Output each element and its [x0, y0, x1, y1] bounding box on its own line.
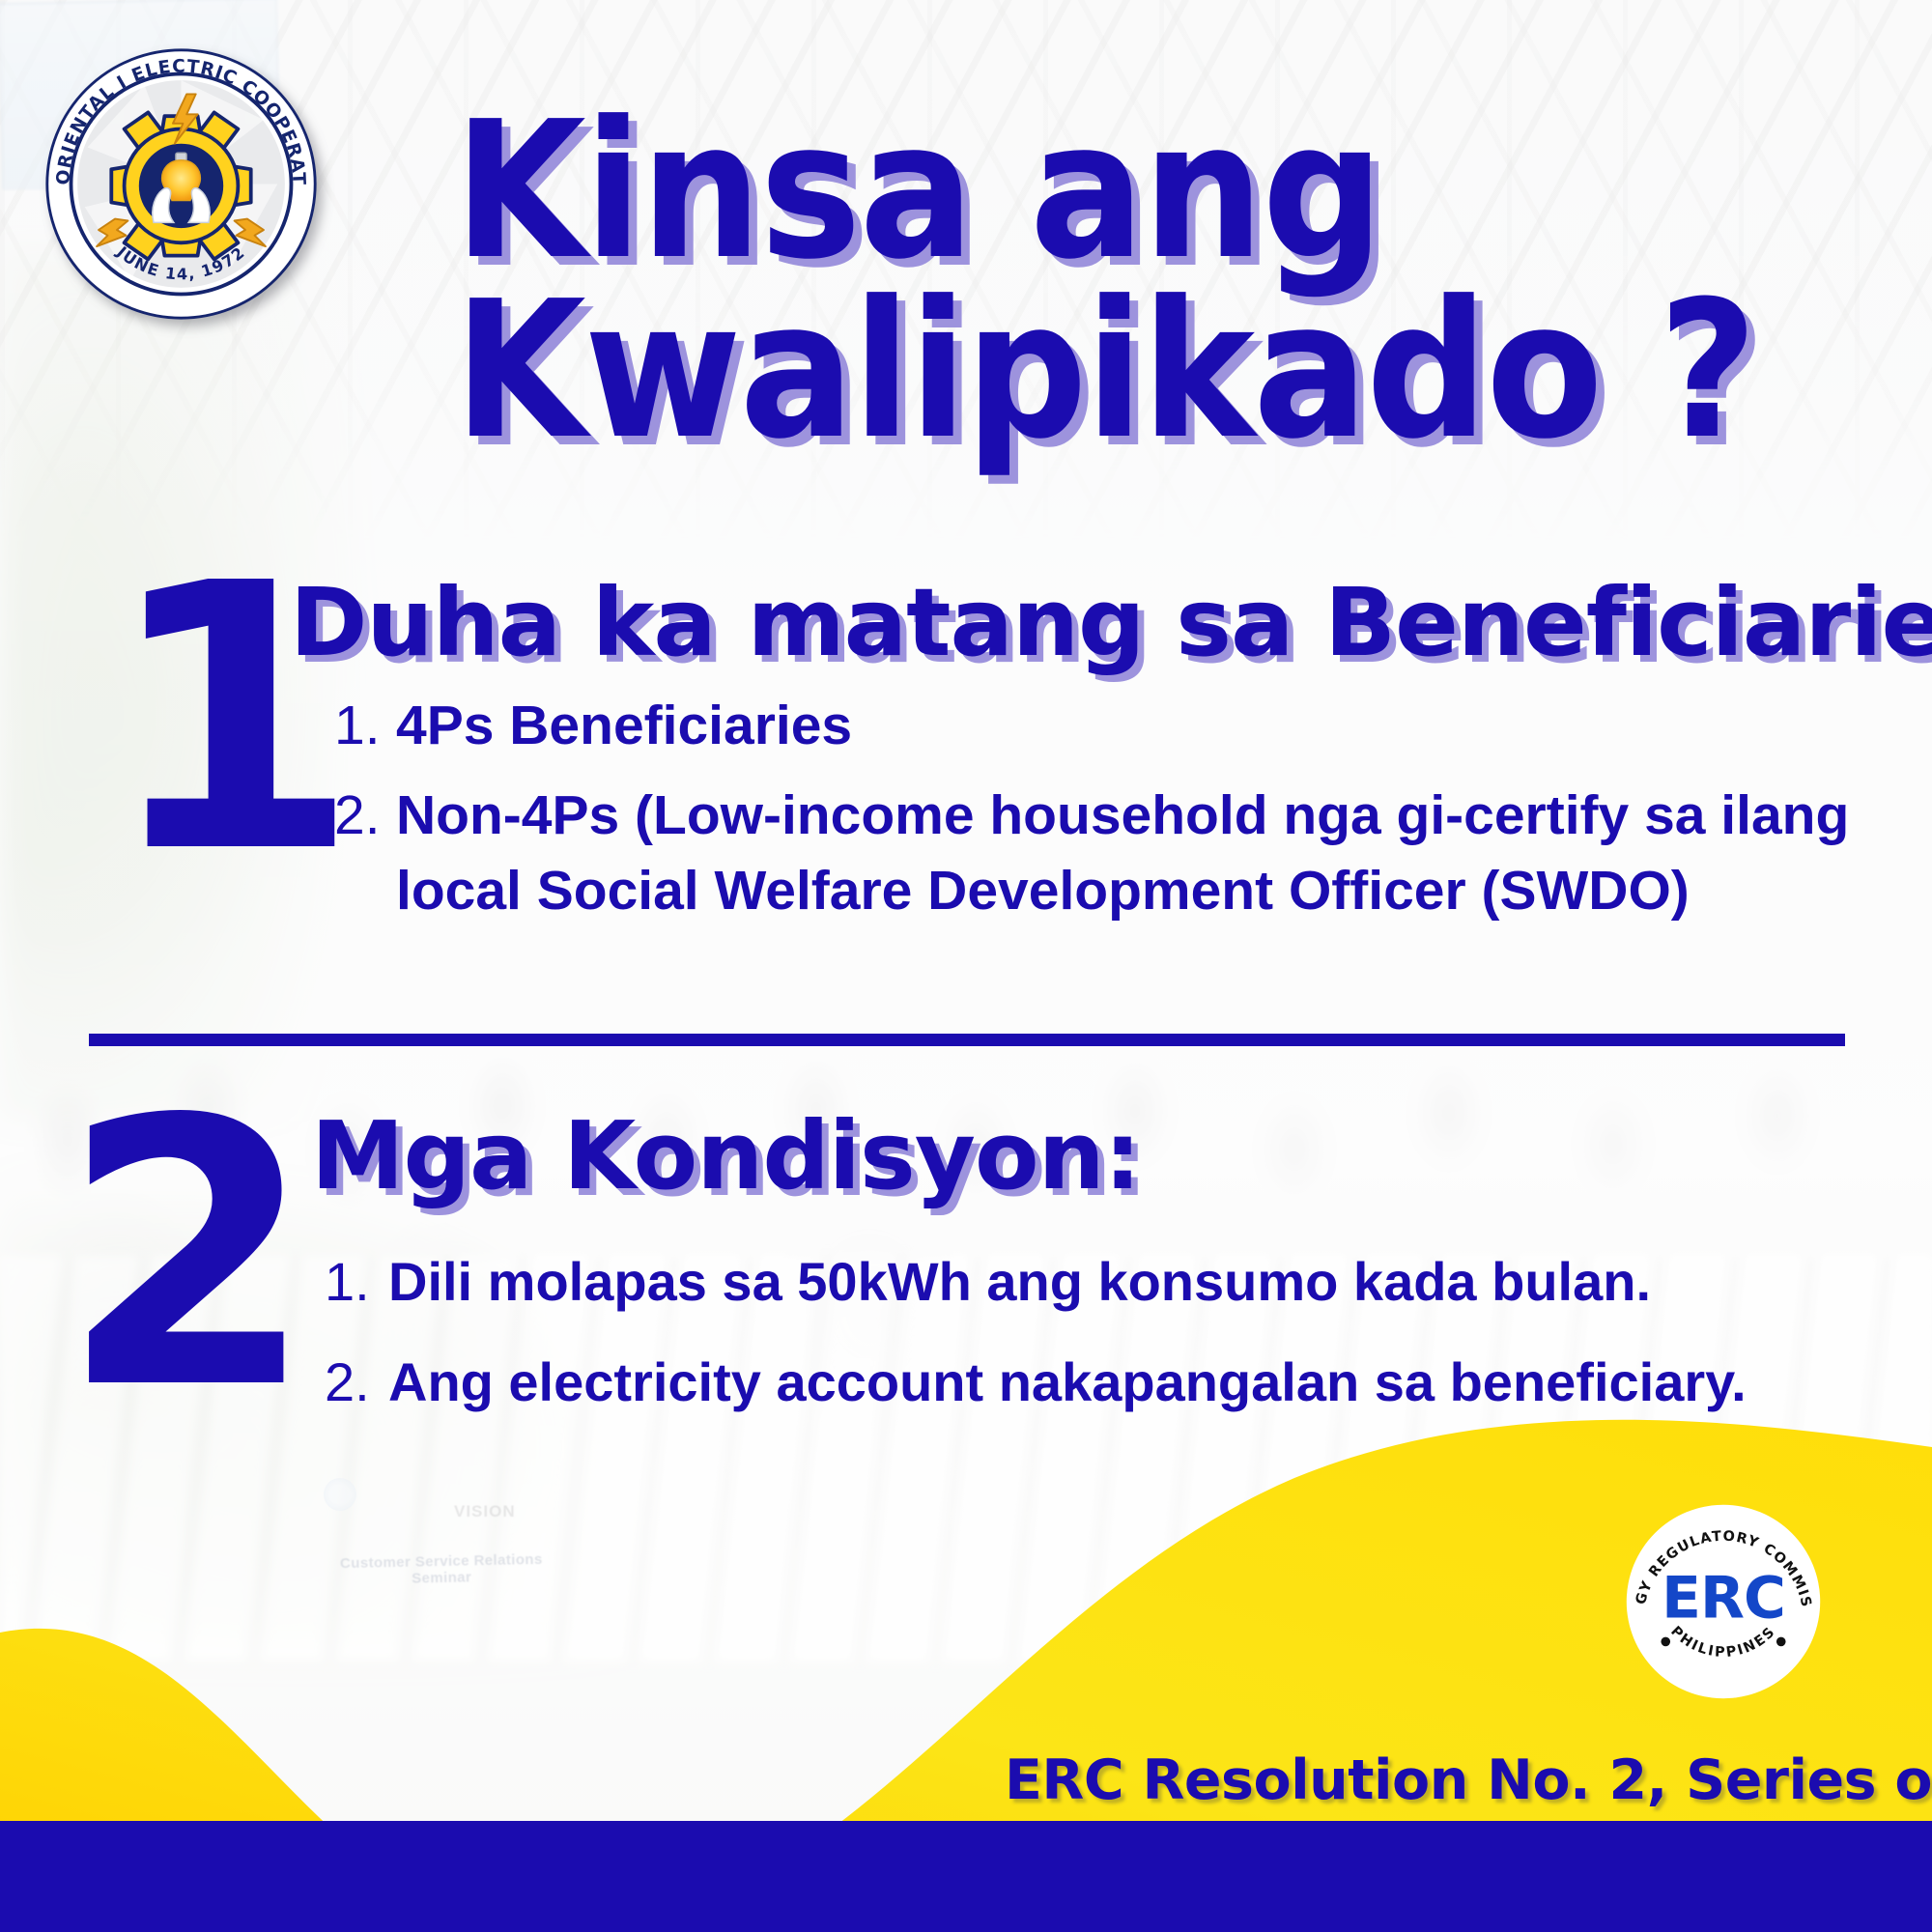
negros-oriental-i-electric-cooperative-logo-icon: NEGROS ORIENTAL I ELECTRIC COOPERATIVE, …	[43, 46, 319, 322]
list-marker: 2.	[334, 778, 396, 854]
section-divider	[89, 1034, 1845, 1046]
list-marker: 1.	[334, 688, 396, 764]
section-2-number: 2	[60, 1072, 315, 1439]
svg-text:ERC: ERC	[1662, 1565, 1785, 1632]
list-marker: 2.	[325, 1347, 388, 1418]
list-marker: 1.	[325, 1246, 388, 1318]
title-line-2: Kwalipikado ?	[454, 284, 1855, 458]
list-item: 2. Non-4Ps (Low-income household nga gi-…	[334, 778, 1909, 929]
bottom-blue-bar	[0, 1821, 1932, 1932]
energy-regulatory-commission-logo-icon: ENERGY REGULATORY COMMISSION PHILIPPINES…	[1621, 1499, 1826, 1704]
section-2-list: 1. Dili molapas sa 50kWh ang konsumo kad…	[325, 1246, 1909, 1447]
section-1-list: 1. 4Ps Beneficiaries 2. Non-4Ps (Low-inc…	[334, 688, 1909, 943]
list-text: Dili molapas sa 50kWh ang konsumo kada b…	[388, 1246, 1909, 1318]
section-2-heading: Mga Kondisyon:	[311, 1101, 1140, 1210]
list-text: Ang electricity account nakapangalan sa …	[388, 1347, 1909, 1418]
footer-resolution-note: ERC Resolution No. 2, Series of 2026	[1005, 1748, 1884, 1812]
section-1-heading: Duha ka matang sa Beneficiaries:	[290, 568, 1932, 677]
page-title: Kinsa ang Kwalipikado ?	[454, 104, 1855, 459]
list-text: 4Ps Beneficiaries	[396, 688, 1903, 764]
list-item: 1. 4Ps Beneficiaries	[334, 688, 1909, 764]
list-item: 1. Dili molapas sa 50kWh ang konsumo kad…	[325, 1246, 1909, 1318]
list-item: 2. Ang electricity account nakapangalan …	[325, 1347, 1909, 1418]
list-text: Non-4Ps (Low-income household nga gi-cer…	[396, 778, 1903, 929]
poster-canvas: Customer Service Relations Seminar VISIO…	[0, 0, 1932, 1932]
